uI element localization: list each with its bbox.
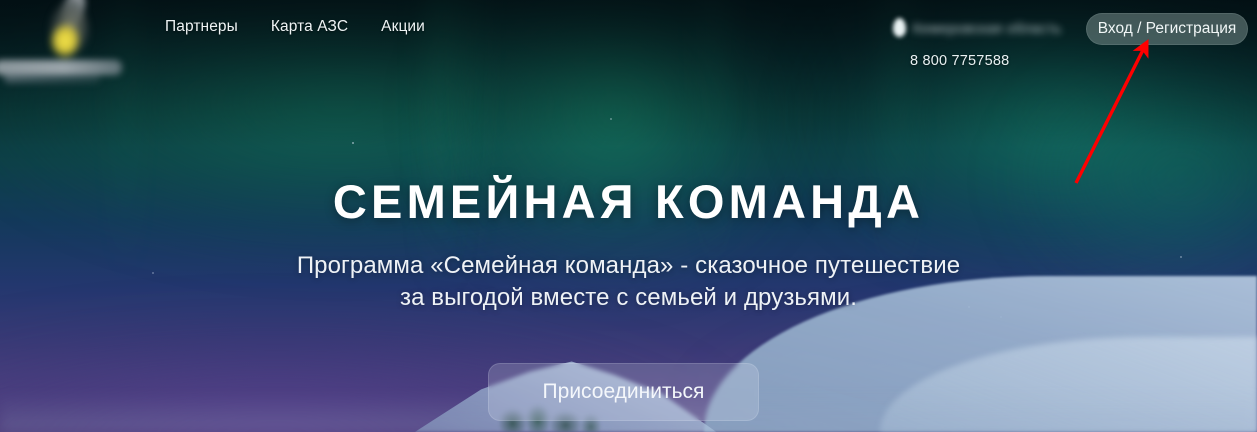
support-phone-number[interactable]: 8 800 7757588 — [910, 53, 1009, 69]
main-navigation: Партнеры Карта АЗС Акции — [165, 18, 425, 36]
page-title: СЕМЕЙНАЯ КОМАНДА — [0, 178, 1257, 225]
join-button[interactable]: Присоединиться — [488, 363, 759, 421]
login-register-button[interactable]: Вход / Регистрация — [1086, 13, 1248, 45]
nav-item-gas-station-map[interactable]: Карта АЗС — [271, 18, 348, 36]
page-root: Партнеры Карта АЗС Акции Кемеровская обл… — [0, 0, 1257, 432]
hero-subtitle-line-1: Программа «Семейная команда» - сказочное… — [0, 250, 1257, 282]
hero-subtitle-line-2: за выгодой вместе с семьей и друзьями. — [0, 282, 1257, 314]
logo-flame-icon — [43, 0, 93, 64]
logo-wordmark-bar — [0, 60, 122, 75]
rosneft-logo[interactable] — [0, 0, 130, 92]
nav-item-promotions[interactable]: Акции — [381, 18, 425, 36]
hero-subtitle: Программа «Семейная команда» - сказочное… — [0, 250, 1257, 313]
site-header: Партнеры Карта АЗС Акции Кемеровская обл… — [0, 0, 1257, 78]
region-selector[interactable]: Кемеровская область — [893, 18, 1061, 37]
logo-subtitle-bar — [4, 74, 100, 83]
location-pin-icon — [893, 18, 906, 37]
region-name-label: Кемеровская область — [913, 20, 1061, 36]
nav-item-partners[interactable]: Партнеры — [165, 18, 238, 36]
